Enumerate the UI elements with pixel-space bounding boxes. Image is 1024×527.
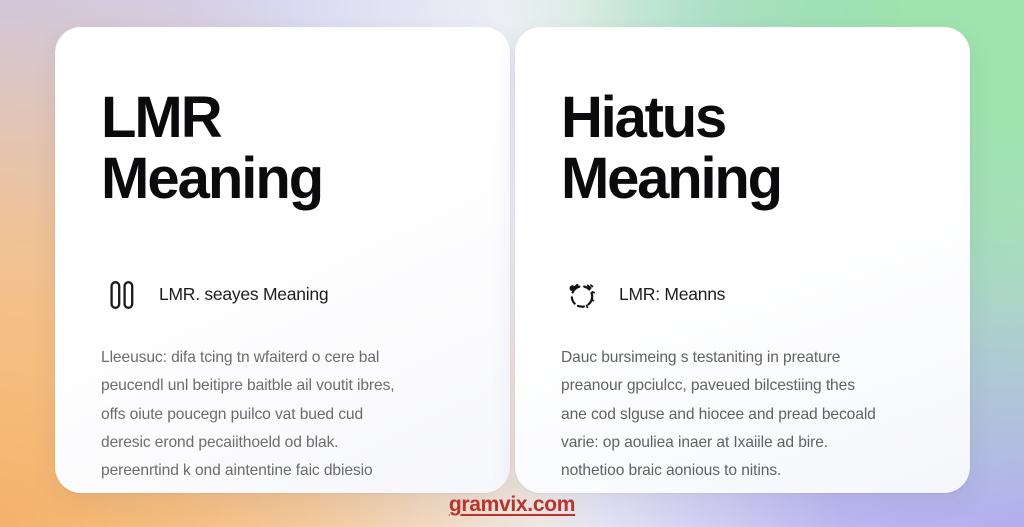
card-body-text: Dauc bursimeing s testaniting in preatur… (561, 344, 924, 486)
card-body-text: Lleeusuc: difa tcing tn wfaiterd o cere … (101, 344, 464, 486)
card-subtitle-label: LMR. seayes Meaning (159, 284, 328, 305)
cards-container: LMR Meaning LMR. seayes Meaning Lleeusuc… (55, 27, 970, 493)
card-headline: Hiatus Meaning (561, 87, 924, 210)
card-subtitle-row: LMR: Meanns (561, 278, 924, 312)
card-lmr-meaning[interactable]: LMR Meaning LMR. seayes Meaning Lleeusuc… (55, 27, 510, 493)
card-hiatus-meaning[interactable]: Hiatus Meaning LMR: Meanns Dauc bursimei… (515, 27, 970, 493)
site-watermark: gramvix.com (0, 493, 1024, 517)
card-subtitle-label: LMR: Meanns (619, 284, 725, 305)
pause-bars-icon (105, 278, 139, 312)
card-headline: LMR Meaning (101, 87, 464, 210)
dashed-circle-icon (565, 278, 599, 312)
card-subtitle-row: LMR. seayes Meaning (101, 278, 464, 312)
